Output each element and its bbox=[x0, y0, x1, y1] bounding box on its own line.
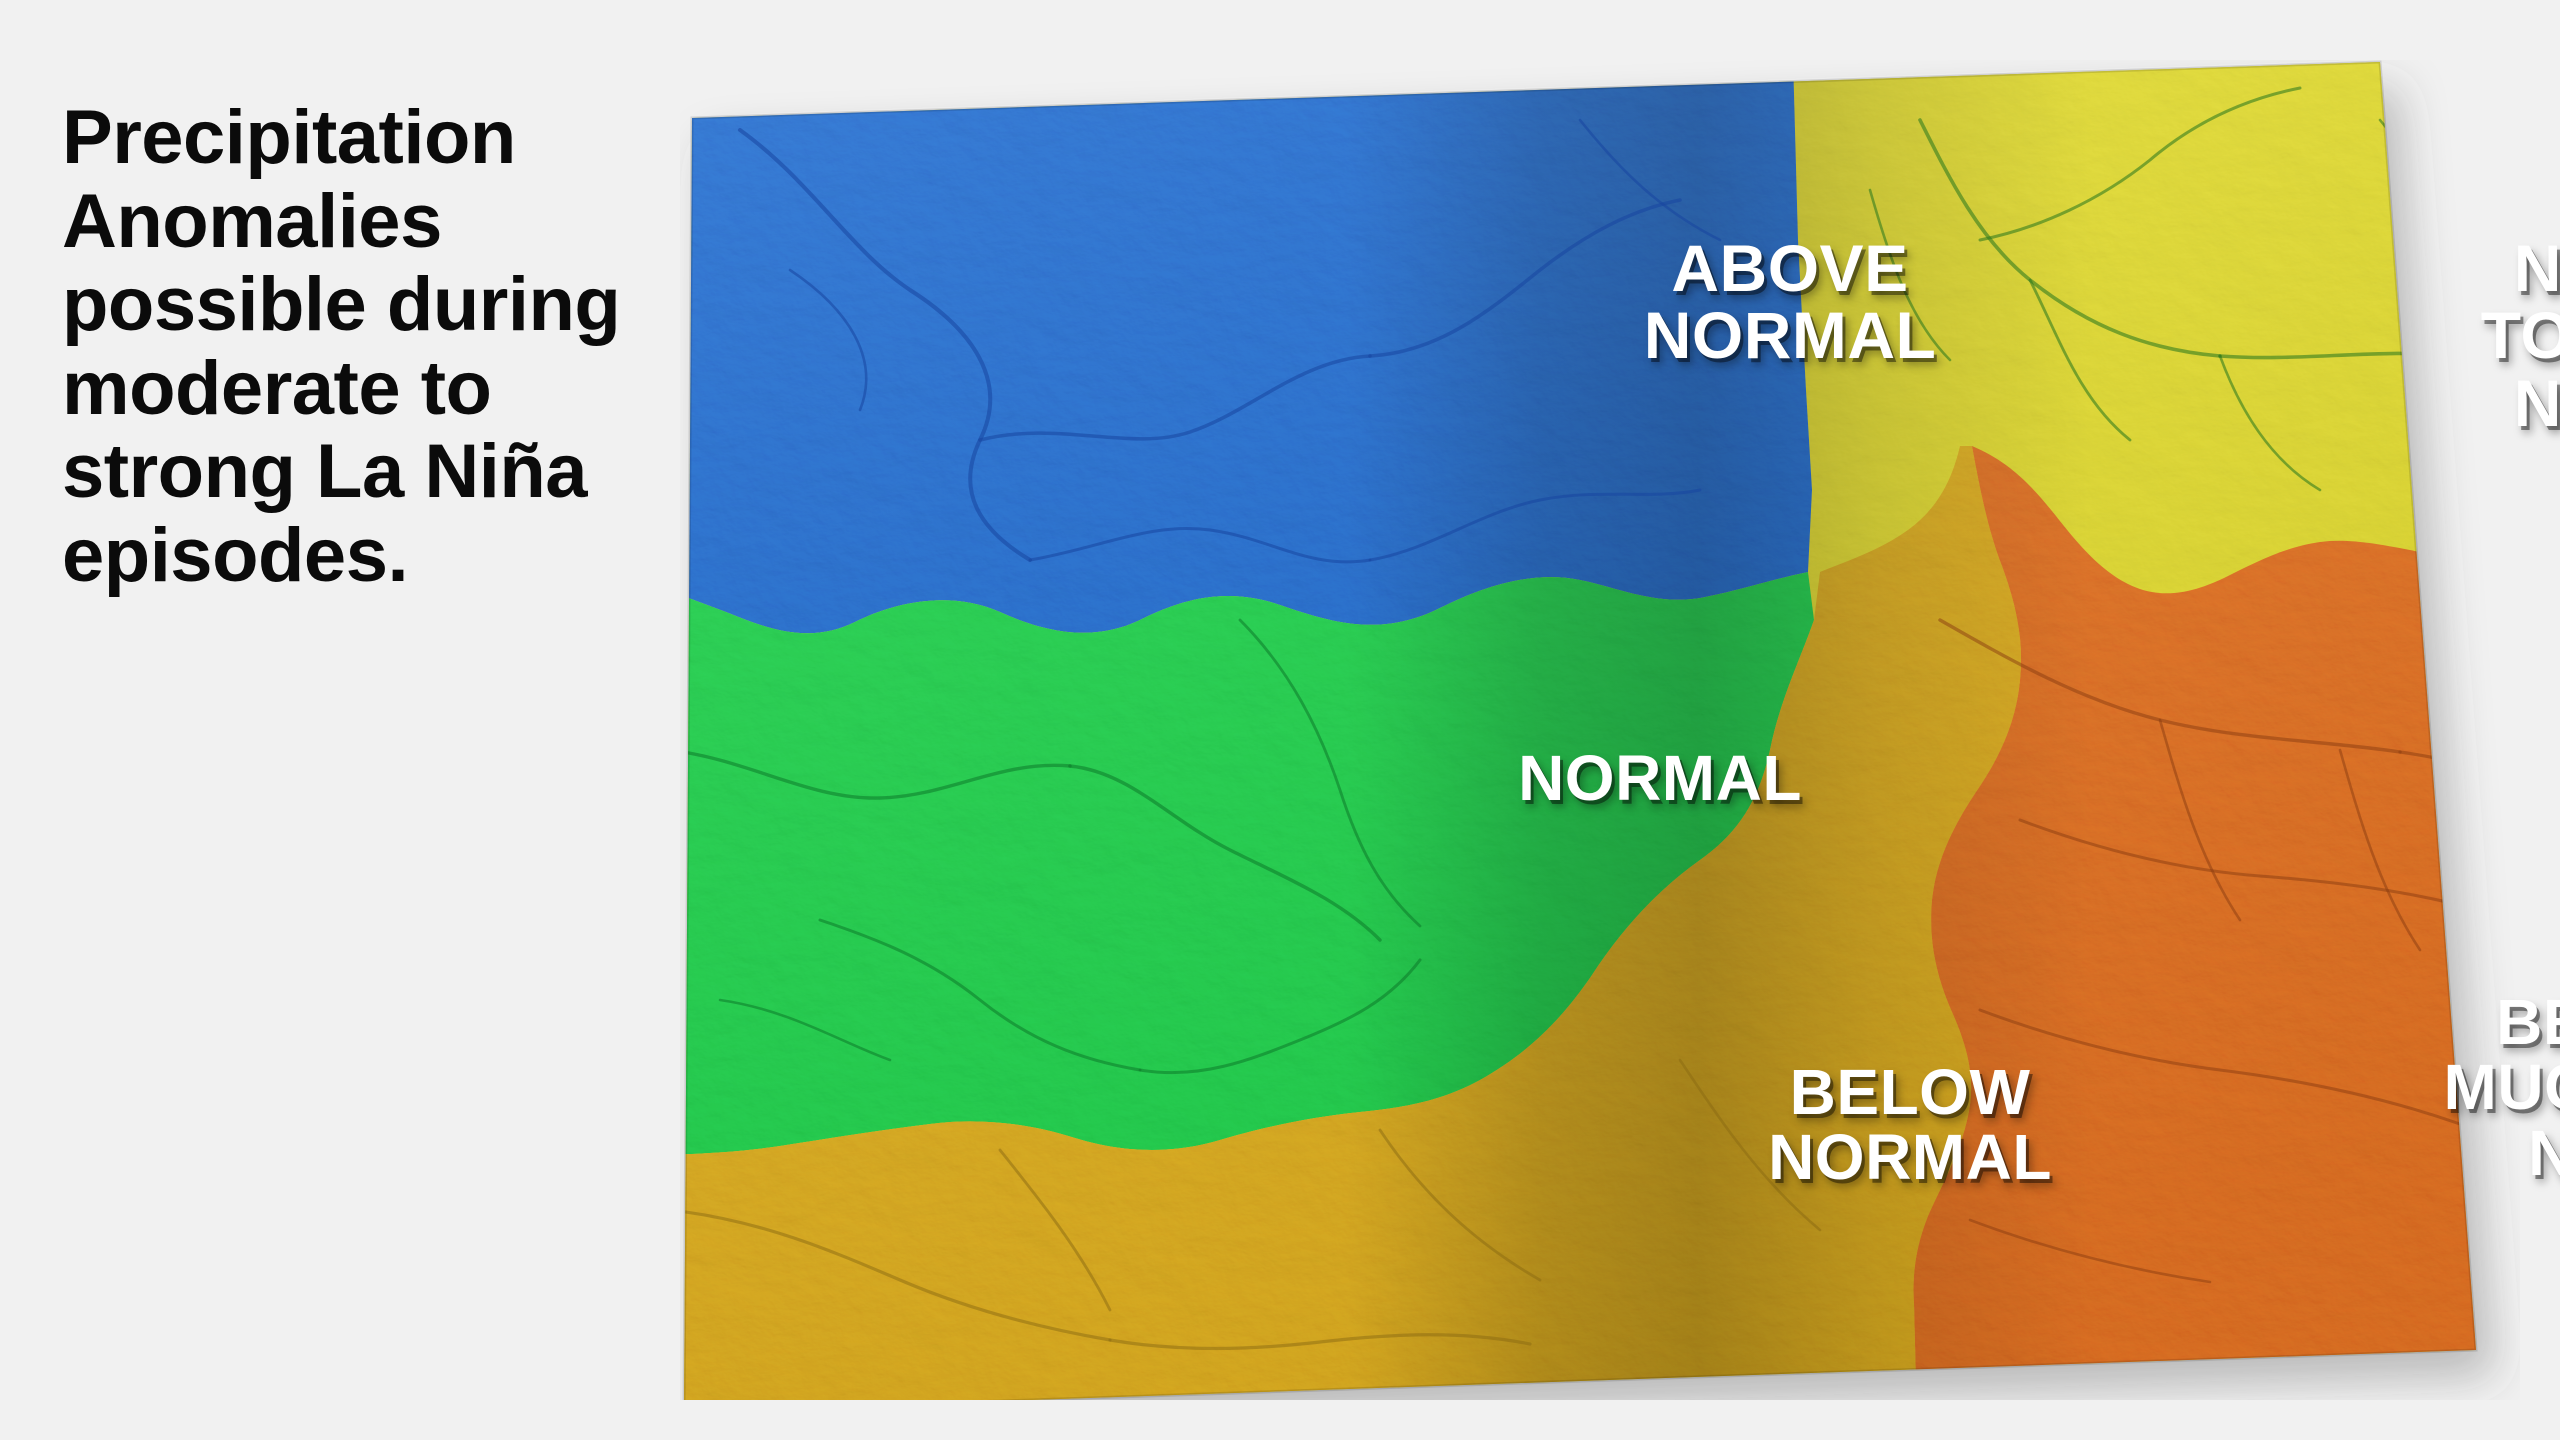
page-title: Precipitation Anomalies possible during … bbox=[62, 96, 722, 598]
infographic-canvas: Precipitation Anomalies possible during … bbox=[0, 0, 2560, 1440]
precipitation-zones bbox=[680, 60, 2520, 1400]
map-svg bbox=[680, 60, 2520, 1400]
colorado-precipitation-map: ABOVE NORMAL NORMAL TO BELOW NORMAL NORM… bbox=[680, 60, 2520, 1400]
map-light-wash bbox=[680, 60, 2520, 1400]
